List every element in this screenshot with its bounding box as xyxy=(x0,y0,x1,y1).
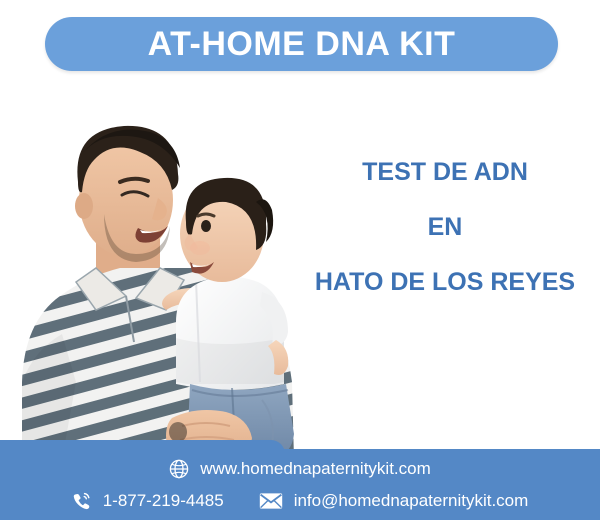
email-text[interactable]: info@homednapaternitykit.com xyxy=(294,492,529,509)
footer-contact-rows: www.homednapaternitykit.com 1-877-219-44… xyxy=(0,449,600,520)
banner-pill: AT-HOME DNA KIT xyxy=(45,17,558,71)
headline-line-2: EN xyxy=(300,215,590,240)
family-photo xyxy=(0,82,330,460)
envelope-icon xyxy=(259,492,283,510)
website-segment[interactable]: www.homednapaternitykit.com xyxy=(169,459,431,479)
phone-icon xyxy=(72,491,92,511)
headline-line-3: HATO DE LOS REYES xyxy=(300,270,590,295)
headline-line-1: TEST DE ADN xyxy=(300,160,590,185)
banner-title: AT-HOME DNA KIT xyxy=(148,27,456,61)
headline-block: TEST DE ADN EN HATO DE LOS REYES xyxy=(300,160,590,295)
footer-row-phone-email: 1-877-219-4485 info@homednapaternitykit.… xyxy=(0,487,600,515)
email-segment[interactable]: info@homednapaternitykit.com xyxy=(259,492,529,510)
footer-row-website: www.homednapaternitykit.com xyxy=(0,455,600,483)
phone-text[interactable]: 1-877-219-4485 xyxy=(103,492,224,509)
website-text[interactable]: www.homednapaternitykit.com xyxy=(200,460,431,477)
globe-icon xyxy=(169,459,189,479)
phone-segment[interactable]: 1-877-219-4485 xyxy=(72,491,224,511)
poster-canvas: AT-HOME DNA KIT xyxy=(0,0,600,520)
